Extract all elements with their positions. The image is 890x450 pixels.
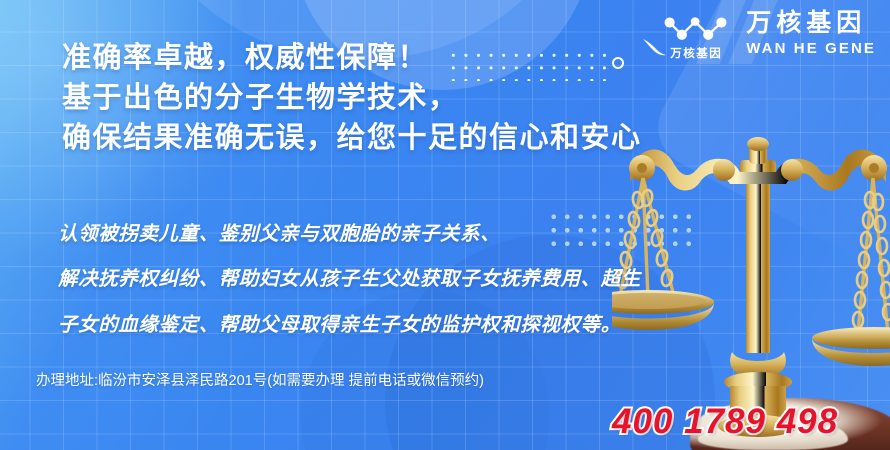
- headline-block: 准确率卓越，权威性保障！ 基于出色的分子生物学技术， 确保结果准确无误，给您十足…: [62, 38, 642, 158]
- brand-name-en: WAN HE GENE: [746, 40, 876, 58]
- swoosh-icon: [640, 36, 670, 58]
- brand-logo[interactable]: 万核基因 万核基因 WAN HE GENE: [659, 6, 876, 62]
- office-address: 办理地址:临汾市安泽县泽民路201号(如需要办理 提前电话或微信预约): [36, 371, 484, 391]
- brand-name-cn: 万核基因: [746, 10, 876, 36]
- scales-of-justice-icon: [612, 120, 890, 450]
- brand-logo-text: 万核基因 WAN HE GENE: [746, 10, 876, 57]
- hotline-phone-number[interactable]: 400 1789 498: [612, 404, 838, 439]
- headline-line-2: 基于出色的分子生物学技术，: [62, 78, 642, 118]
- logo-mark-label: 万核基因: [670, 49, 722, 61]
- molecule-network-icon: 万核基因: [659, 8, 733, 60]
- headline-line-3: 确保结果准确无误，给您十足的信心和安心: [62, 118, 642, 158]
- headline-line-1: 准确率卓越，权威性保障！: [62, 38, 642, 78]
- promo-banner: 万核基因 万核基因 WAN HE GENE 准确率卓越，权威性保障！ 基于出色的…: [0, 0, 890, 450]
- services-block: 认领被拐卖儿童、鉴别父亲与双胞胎的亲子关系、 解决抚养权纠纷、帮助妇女从孩子生父…: [58, 212, 641, 348]
- service-line-3: 子女的血缘鉴定、帮助父母取得亲生子女的监护权和探视权等。: [58, 303, 641, 348]
- service-line-2: 解决抚养权纠纷、帮助妇女从孩子生父处获取子女抚养费用、超生: [58, 257, 641, 302]
- service-line-1: 认领被拐卖儿童、鉴别父亲与双胞胎的亲子关系、: [58, 212, 641, 257]
